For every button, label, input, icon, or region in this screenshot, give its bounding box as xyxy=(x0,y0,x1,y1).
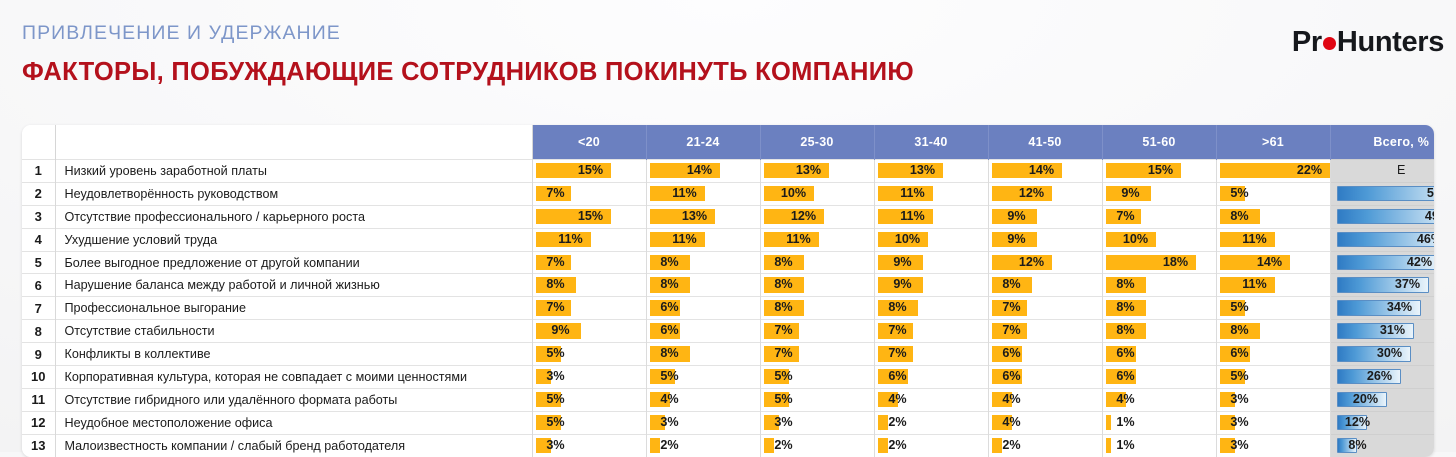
bar-cell: 15% xyxy=(533,206,646,228)
bar-cell: 5% xyxy=(1217,183,1330,205)
cell-age-5: 4% xyxy=(1102,388,1216,411)
cell-age-1: 13% xyxy=(646,205,760,228)
bar-cell: 3% xyxy=(1217,389,1330,411)
bar-value-label: 9% xyxy=(1111,183,1151,205)
cell-age-3: 11% xyxy=(874,182,988,205)
bar-cell: 8% xyxy=(1217,206,1330,228)
cell-age-4: 4% xyxy=(988,388,1102,411)
cell-age-5: 1% xyxy=(1102,411,1216,434)
bar-value-label: 7% xyxy=(878,320,918,342)
bar-cell: 8% xyxy=(533,274,646,296)
bar-cell: 15% xyxy=(1103,160,1216,182)
cell-age-2: 8% xyxy=(760,274,874,297)
bar-cell: 2% xyxy=(875,412,988,434)
cell-age-0: 11% xyxy=(532,228,646,251)
cell-age-6: 8% xyxy=(1216,320,1330,343)
row-factor-label: Низкий уровень заработной платы xyxy=(55,160,532,183)
total-cell: 42% xyxy=(1331,252,1435,274)
bar-cell: 5% xyxy=(761,389,874,411)
bar-value-label: 4% xyxy=(650,389,690,411)
bar-cell: 8% xyxy=(989,274,1102,296)
bar-cell: 11% xyxy=(1217,274,1330,296)
total-value-label: 31% xyxy=(1372,320,1414,342)
bar-cell: 9% xyxy=(989,206,1102,228)
bar-cell: 11% xyxy=(761,229,874,251)
cell-age-3: 9% xyxy=(874,274,988,297)
header-kicker: ПРИВЛЕЧЕНИЕ И УДЕРЖАНИЕ xyxy=(22,24,914,44)
bar-value-label: 8% xyxy=(1220,320,1260,342)
bar-value-label: 14% xyxy=(1022,160,1062,182)
cell-age-1: 11% xyxy=(646,228,760,251)
cell-age-2: 8% xyxy=(760,251,874,274)
bar-cell: 6% xyxy=(1217,343,1330,365)
cell-age-5: 6% xyxy=(1102,366,1216,389)
cell-age-4: 4% xyxy=(988,411,1102,434)
table-row: 2Неудовлетворённость руководством7%11%10… xyxy=(22,182,1434,205)
bar-value-label: 8% xyxy=(536,274,576,296)
row-index: 8 xyxy=(22,320,55,343)
bar-cell: 6% xyxy=(1103,366,1216,388)
bar-cell: 6% xyxy=(875,366,988,388)
cell-age-1: 4% xyxy=(646,388,760,411)
bar-cell: 4% xyxy=(989,412,1102,434)
bar-cell: 7% xyxy=(761,320,874,342)
bar-cell: 7% xyxy=(1103,206,1216,228)
total-value-label: 30% xyxy=(1369,343,1411,365)
total-cell: 49% xyxy=(1331,206,1435,228)
bar-cell: 4% xyxy=(989,389,1102,411)
cell-age-1: 6% xyxy=(646,320,760,343)
total-cell: 50% xyxy=(1331,183,1435,205)
bar-cell: 18% xyxy=(1103,252,1216,274)
row-factor-label: Отсутствие гибридного или удалённого фор… xyxy=(55,388,532,411)
cell-age-4: 2% xyxy=(988,434,1102,456)
total-cell: 31% xyxy=(1331,320,1435,342)
cell-age-1: 8% xyxy=(646,343,760,366)
bar-value-label: 2% xyxy=(878,435,918,457)
total-value-label: 26% xyxy=(1359,366,1401,388)
cell-age-2: 7% xyxy=(760,320,874,343)
cell-total: 30% xyxy=(1330,343,1434,366)
cell-age-3: 10% xyxy=(874,228,988,251)
bar-value-label: 9% xyxy=(883,274,923,296)
bar-cell: 12% xyxy=(989,252,1102,274)
bar-value-label: 7% xyxy=(1106,206,1146,228)
cell-age-5: 10% xyxy=(1102,228,1216,251)
total-cell: 26% xyxy=(1331,366,1435,388)
bar-cell: 5% xyxy=(1217,366,1330,388)
cell-age-4: 12% xyxy=(988,251,1102,274)
bar-cell: 6% xyxy=(989,343,1102,365)
row-factor-label: Отсутствие стабильности xyxy=(55,320,532,343)
cell-age-4: 6% xyxy=(988,366,1102,389)
bar-value-label: 7% xyxy=(992,297,1032,319)
bar-value-label: 11% xyxy=(665,183,705,205)
table-row: 4Ухудшение условий труда11%11%11%10%9%10… xyxy=(22,228,1434,251)
row-index: 2 xyxy=(22,182,55,205)
bar-value-label: 10% xyxy=(1116,229,1156,251)
cell-age-5: 1% xyxy=(1102,434,1216,456)
bar-value-label: 11% xyxy=(779,229,819,251)
bar-value-label: 7% xyxy=(764,320,804,342)
row-index: 6 xyxy=(22,274,55,297)
bar-cell: 11% xyxy=(875,183,988,205)
row-index: 4 xyxy=(22,228,55,251)
cell-total: 12% xyxy=(1330,411,1434,434)
header-cell-total[interactable]: Всего, % xyxy=(1330,125,1434,160)
bar-cell: 5% xyxy=(761,366,874,388)
bar-value-label: 14% xyxy=(1250,252,1290,274)
header-cell-age-0[interactable]: <20 xyxy=(532,125,646,160)
header-cell-age-4[interactable]: 41-50 xyxy=(988,125,1102,160)
table-row: 6Нарушение баланса между работой и лично… xyxy=(22,274,1434,297)
bar-value-label: 9% xyxy=(997,206,1037,228)
cell-age-2: 13% xyxy=(760,160,874,183)
bar-value-label: 12% xyxy=(1012,183,1052,205)
row-factor-label: Отсутствие профессионального / карьерног… xyxy=(55,205,532,228)
total-value-label: 49% xyxy=(1417,206,1435,228)
cell-age-6: 5% xyxy=(1216,366,1330,389)
cell-age-6: 3% xyxy=(1216,411,1330,434)
row-factor-label: Малоизвестность компании / слабый бренд … xyxy=(55,434,532,456)
cell-total: 8% xyxy=(1330,434,1434,456)
cell-age-2: 8% xyxy=(760,297,874,320)
bar-cell: 5% xyxy=(647,366,760,388)
table-row: 1Низкий уровень заработной платы15%14%13… xyxy=(22,160,1434,183)
bar-cell: 11% xyxy=(533,229,646,251)
bar-cell: 9% xyxy=(533,320,646,342)
bar-value-label: 13% xyxy=(903,160,943,182)
cell-age-4: 7% xyxy=(988,320,1102,343)
cell-age-5: 7% xyxy=(1102,205,1216,228)
cell-age-0: 8% xyxy=(532,274,646,297)
total-value-label: 12% xyxy=(1337,412,1379,434)
bar-value-label: 6% xyxy=(1220,343,1260,365)
table-header-row: <2021-2425-3031-4041-5051-60>61Всего, % xyxy=(22,125,1434,160)
total-value-label: 8% xyxy=(1337,435,1379,457)
cell-age-2: 3% xyxy=(760,411,874,434)
cell-total: 31% xyxy=(1330,320,1434,343)
row-factor-label: Ухудшение условий труда xyxy=(55,228,532,251)
cell-age-3: 2% xyxy=(874,434,988,456)
bar-cell: 7% xyxy=(875,343,988,365)
row-index: 10 xyxy=(22,366,55,389)
total-value-label: 34% xyxy=(1379,297,1421,319)
total-value-label: E xyxy=(1331,160,1435,182)
total-cell: 37% xyxy=(1331,274,1435,296)
bar-value-label: 11% xyxy=(893,183,933,205)
cell-age-2: 5% xyxy=(760,388,874,411)
bar-cell: 7% xyxy=(533,297,646,319)
bar-value-label: 5% xyxy=(1220,183,1260,205)
cell-age-6: 5% xyxy=(1216,182,1330,205)
data-table-container: <2021-2425-3031-4041-5051-60>61Всего, % … xyxy=(22,125,1434,457)
cell-age-5: 8% xyxy=(1102,320,1216,343)
cell-age-5: 6% xyxy=(1102,343,1216,366)
cell-age-3: 11% xyxy=(874,205,988,228)
header-cell-index xyxy=(22,125,55,160)
bar-value-label: 6% xyxy=(878,366,918,388)
cell-age-1: 8% xyxy=(646,251,760,274)
cell-age-4: 9% xyxy=(988,228,1102,251)
bar-cell: 7% xyxy=(875,320,988,342)
bar-value-label: 8% xyxy=(764,252,804,274)
row-factor-label: Нарушение баланса между работой и личной… xyxy=(55,274,532,297)
header-block: ПРИВЛЕЧЕНИЕ И УДЕРЖАНИЕ ФАКТОРЫ, ПОБУЖДА… xyxy=(22,24,914,85)
bar-cell: 3% xyxy=(533,435,646,457)
bar-value-label: 12% xyxy=(784,206,824,228)
cell-age-0: 7% xyxy=(532,182,646,205)
page-root: ПРИВЛЕЧЕНИЕ И УДЕРЖАНИЕ ФАКТОРЫ, ПОБУЖДА… xyxy=(0,0,1456,452)
cell-age-5: 8% xyxy=(1102,297,1216,320)
bar-cell: 3% xyxy=(761,412,874,434)
cell-age-4: 6% xyxy=(988,343,1102,366)
bar-value-label: 7% xyxy=(536,252,576,274)
logo-text-pr: Pr xyxy=(1292,28,1322,57)
bar-value-label: 4% xyxy=(1106,389,1146,411)
cell-age-1: 5% xyxy=(646,366,760,389)
bar-value-label: 11% xyxy=(893,206,933,228)
bar-value-label: 11% xyxy=(1235,229,1275,251)
bar-cell: 5% xyxy=(533,412,646,434)
bar-value-label: 13% xyxy=(675,206,715,228)
cell-age-6: 3% xyxy=(1216,434,1330,456)
cell-age-6: 14% xyxy=(1216,251,1330,274)
cell-age-1: 14% xyxy=(646,160,760,183)
total-cell: 12% xyxy=(1331,412,1435,434)
cell-age-1: 6% xyxy=(646,297,760,320)
bar-value-label: 6% xyxy=(992,366,1032,388)
cell-total: 50% xyxy=(1330,182,1434,205)
bar-cell: 3% xyxy=(647,412,760,434)
bar-cell: 6% xyxy=(647,297,760,319)
bar-value-label: 1% xyxy=(1106,412,1146,434)
bar-value-label: 7% xyxy=(992,320,1032,342)
cell-age-6: 3% xyxy=(1216,388,1330,411)
bar-cell: 13% xyxy=(761,160,874,182)
table-row: 8Отсутствие стабильности9%6%7%7%7%8%8%31… xyxy=(22,320,1434,343)
cell-total: 37% xyxy=(1330,274,1434,297)
bar-value-label: 5% xyxy=(1220,297,1260,319)
cell-age-6: 5% xyxy=(1216,297,1330,320)
cell-age-5: 15% xyxy=(1102,160,1216,183)
bar-cell: 8% xyxy=(761,252,874,274)
bar-value-label: 10% xyxy=(774,183,814,205)
bar-value-label: 5% xyxy=(536,412,576,434)
table-row: 12Неудобное местоположение офиса5%3%3%2%… xyxy=(22,411,1434,434)
table-row: 3Отсутствие профессионального / карьерно… xyxy=(22,205,1434,228)
bar-value-label: 7% xyxy=(536,183,576,205)
bar-cell: 14% xyxy=(1217,252,1330,274)
total-cell: E xyxy=(1331,160,1435,182)
row-factor-label: Профессиональное выгорание xyxy=(55,297,532,320)
bar-cell: 8% xyxy=(1103,297,1216,319)
bar-cell: 6% xyxy=(647,320,760,342)
cell-age-2: 5% xyxy=(760,366,874,389)
bar-cell: 4% xyxy=(1103,389,1216,411)
cell-age-5: 9% xyxy=(1102,182,1216,205)
bar-value-label: 8% xyxy=(1106,297,1146,319)
cell-age-1: 11% xyxy=(646,182,760,205)
bar-value-label: 4% xyxy=(878,389,918,411)
bar-value-label: 3% xyxy=(536,366,576,388)
cell-age-1: 3% xyxy=(646,411,760,434)
table-header: <2021-2425-3031-4041-5051-60>61Всего, % xyxy=(22,125,1434,160)
cell-age-6: 22% xyxy=(1216,160,1330,183)
bar-cell: 10% xyxy=(761,183,874,205)
bar-cell: 7% xyxy=(989,297,1102,319)
total-cell: 20% xyxy=(1331,389,1435,411)
bar-cell: 13% xyxy=(647,206,760,228)
row-factor-label: Неудобное местоположение офиса xyxy=(55,411,532,434)
bar-cell: 8% xyxy=(1217,320,1330,342)
logo-dot-icon xyxy=(1323,37,1336,50)
cell-age-0: 3% xyxy=(532,366,646,389)
bar-value-label: 8% xyxy=(878,297,918,319)
header-cell-age-5[interactable]: 51-60 xyxy=(1102,125,1216,160)
bar-cell: 3% xyxy=(533,366,646,388)
bar-value-label: 8% xyxy=(650,274,690,296)
bar-cell: 11% xyxy=(1217,229,1330,251)
cell-total: E xyxy=(1330,160,1434,183)
table-row: 7Профессиональное выгорание7%6%8%8%7%8%5… xyxy=(22,297,1434,320)
row-index: 11 xyxy=(22,388,55,411)
bar-cell: 9% xyxy=(875,274,988,296)
bar-value-label: 11% xyxy=(665,229,705,251)
bar-value-label: 8% xyxy=(1106,320,1146,342)
bar-cell: 1% xyxy=(1103,412,1216,434)
header-cell-factor xyxy=(55,125,532,160)
bar-cell: 4% xyxy=(647,389,760,411)
table-row: 5Более выгодное предложение от другой ко… xyxy=(22,251,1434,274)
bar-value-label: 3% xyxy=(536,435,576,457)
bar-cell: 14% xyxy=(989,160,1102,182)
bar-value-label: 5% xyxy=(764,366,804,388)
bar-value-label: 5% xyxy=(536,389,576,411)
row-index: 12 xyxy=(22,411,55,434)
bar-value-label: 3% xyxy=(1220,412,1260,434)
bar-value-label: 12% xyxy=(1012,252,1052,274)
cell-age-1: 8% xyxy=(646,274,760,297)
cell-total: 46% xyxy=(1330,228,1434,251)
bar-value-label: 5% xyxy=(650,366,690,388)
bar-value-label: 7% xyxy=(536,297,576,319)
cell-age-3: 9% xyxy=(874,251,988,274)
row-index: 13 xyxy=(22,434,55,456)
cell-age-6: 11% xyxy=(1216,274,1330,297)
page-title: ФАКТОРЫ, ПОБУЖДАЮЩИЕ СОТРУДНИКОВ ПОКИНУТ… xyxy=(22,60,914,86)
total-value-label: 37% xyxy=(1387,274,1429,296)
bar-value-label: 6% xyxy=(992,343,1032,365)
cell-age-3: 2% xyxy=(874,411,988,434)
bar-cell: 8% xyxy=(1103,320,1216,342)
bar-value-label: 4% xyxy=(992,389,1032,411)
bar-cell: 8% xyxy=(761,297,874,319)
row-index: 7 xyxy=(22,297,55,320)
bar-value-label: 5% xyxy=(764,389,804,411)
cell-age-5: 8% xyxy=(1102,274,1216,297)
row-factor-label: Корпоративная культура, которая не совпа… xyxy=(55,366,532,389)
table-row: 11Отсутствие гибридного или удалённого ф… xyxy=(22,388,1434,411)
cell-age-5: 18% xyxy=(1102,251,1216,274)
bar-value-label: 8% xyxy=(764,274,804,296)
bar-cell: 7% xyxy=(533,252,646,274)
bar-cell: 11% xyxy=(875,206,988,228)
bar-cell: 8% xyxy=(875,297,988,319)
cell-age-0: 15% xyxy=(532,205,646,228)
prohunters-logo: PrHunters xyxy=(1292,28,1444,57)
total-cell: 30% xyxy=(1331,343,1435,365)
bar-cell: 10% xyxy=(875,229,988,251)
bar-value-label: 8% xyxy=(1220,206,1260,228)
bar-cell: 5% xyxy=(533,389,646,411)
total-value-label: 20% xyxy=(1345,389,1387,411)
bar-value-label: 2% xyxy=(878,412,918,434)
bar-cell: 13% xyxy=(875,160,988,182)
bar-value-label: 5% xyxy=(1220,366,1260,388)
cell-age-2: 10% xyxy=(760,182,874,205)
total-cell: 46% xyxy=(1331,229,1435,251)
row-factor-label: Неудовлетворённость руководством xyxy=(55,182,532,205)
logo-text-hunters: Hunters xyxy=(1337,28,1444,57)
bar-value-label: 15% xyxy=(571,206,611,228)
table-row: 9Конфликты в коллективе5%8%7%7%6%6%6%30% xyxy=(22,343,1434,366)
header-cell-age-1[interactable]: 21-24 xyxy=(646,125,760,160)
bar-cell: 6% xyxy=(989,366,1102,388)
cell-age-2: 11% xyxy=(760,228,874,251)
cell-age-0: 9% xyxy=(532,320,646,343)
header-cell-age-6[interactable]: >61 xyxy=(1216,125,1330,160)
bar-value-label: 3% xyxy=(1220,389,1260,411)
cell-age-3: 7% xyxy=(874,343,988,366)
bar-value-label: 15% xyxy=(1141,160,1181,182)
bar-cell: 14% xyxy=(647,160,760,182)
header-cell-age-2[interactable]: 25-30 xyxy=(760,125,874,160)
bar-cell: 6% xyxy=(1103,343,1216,365)
cell-total: 26% xyxy=(1330,366,1434,389)
cell-age-0: 7% xyxy=(532,297,646,320)
bar-cell: 2% xyxy=(647,435,760,457)
bar-cell: 15% xyxy=(533,160,646,182)
table-body: 1Низкий уровень заработной платы15%14%13… xyxy=(22,160,1434,457)
cell-age-2: 12% xyxy=(760,205,874,228)
bar-cell: 4% xyxy=(875,389,988,411)
table-row: 13Малоизвестность компании / слабый брен… xyxy=(22,434,1434,456)
cell-age-3: 8% xyxy=(874,297,988,320)
total-cell: 34% xyxy=(1331,297,1435,319)
header-cell-age-3[interactable]: 31-40 xyxy=(874,125,988,160)
cell-total: 20% xyxy=(1330,388,1434,411)
bar-value-label: 8% xyxy=(650,252,690,274)
factors-table: <2021-2425-3031-4041-5051-60>61Всего, % … xyxy=(22,125,1434,457)
bar-value-label: 7% xyxy=(764,343,804,365)
cell-age-0: 15% xyxy=(532,160,646,183)
cell-age-4: 12% xyxy=(988,182,1102,205)
total-value-label: 50% xyxy=(1419,183,1435,205)
bar-value-label: 8% xyxy=(764,297,804,319)
bar-value-label: 15% xyxy=(571,160,611,182)
bar-value-label: 8% xyxy=(650,343,690,365)
bar-cell: 8% xyxy=(647,252,760,274)
bar-cell: 11% xyxy=(647,183,760,205)
bar-value-label: 6% xyxy=(650,320,690,342)
bar-value-label: 11% xyxy=(551,229,591,251)
bar-value-label: 22% xyxy=(1290,160,1330,182)
bar-cell: 8% xyxy=(647,343,760,365)
cell-age-6: 6% xyxy=(1216,343,1330,366)
bar-cell: 3% xyxy=(1217,435,1330,457)
table-row: 10Корпоративная культура, которая не сов… xyxy=(22,366,1434,389)
